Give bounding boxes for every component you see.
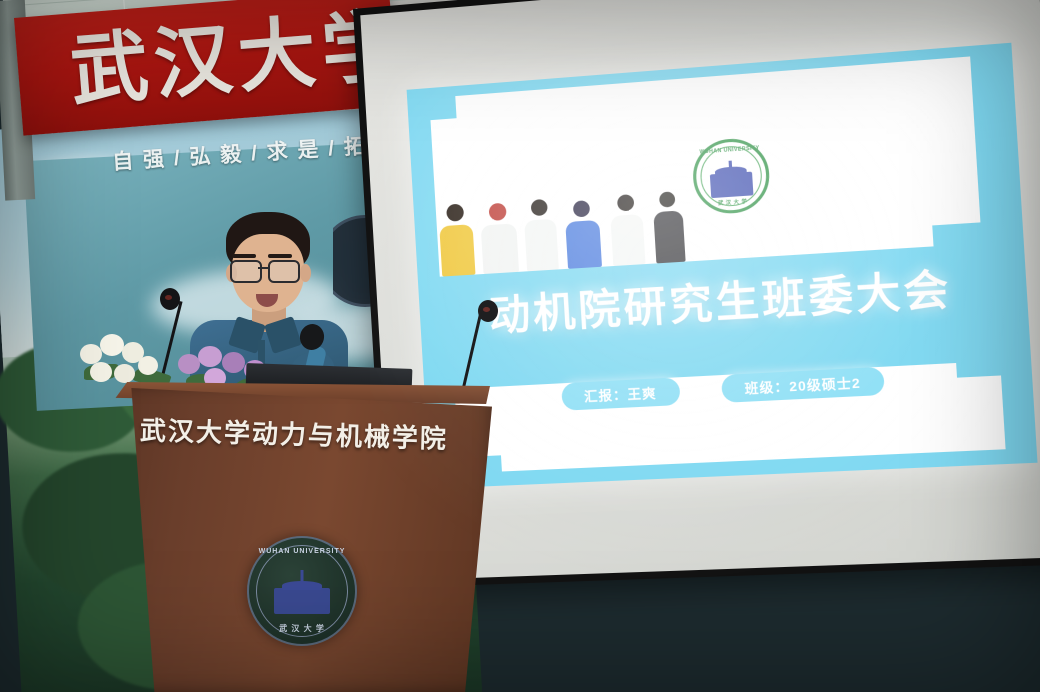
gooseneck-mic-right-head: [478, 300, 498, 322]
figure-body: [524, 219, 559, 272]
speaker-brow-left: [232, 254, 256, 258]
slide-illustration-people: [437, 183, 698, 277]
whu-logo-icon: WUHAN UNIVERSITY 武 汉 大 学: [691, 136, 771, 215]
glasses-lens-right-icon: [268, 260, 300, 283]
figure-yellow-floral: [438, 203, 475, 277]
figure-red-cap: [479, 202, 519, 274]
glasses-bridge: [258, 267, 268, 269]
podium-emblem-english: WUHAN UNIVERSITY: [249, 548, 355, 555]
speaker-ear-right: [300, 264, 311, 282]
figure-body: [439, 224, 475, 276]
figure-arms-raised: [564, 200, 602, 269]
figure-head: [488, 203, 506, 221]
figure-head: [572, 200, 589, 217]
presentation-slide: WUHAN UNIVERSITY 武 汉 大 学 动机院研究生班委大会 汇报：王…: [407, 43, 1038, 489]
figure-body: [653, 210, 685, 263]
figure-head: [616, 194, 634, 211]
figure-head: [530, 199, 547, 216]
figure-dark-top: [652, 191, 685, 264]
figure-body: [480, 223, 518, 274]
glasses-lens-left-icon: [230, 260, 262, 283]
figure-head: [659, 191, 676, 207]
podium-whu-emblem: WUHAN UNIVERSITY 武 汉 大 学: [247, 536, 357, 646]
figure-body: [610, 214, 645, 266]
podium-emblem-chinese: 武 汉 大 学: [249, 623, 355, 634]
figure-head: [446, 204, 464, 222]
pill-presenter: 汇报：王爽: [561, 377, 681, 410]
figure-dark-hair: [522, 198, 558, 271]
speaker-brow-right: [268, 254, 292, 258]
figure-white-top: [609, 194, 645, 266]
figure-body: [565, 220, 602, 269]
presentation-photo-scene: 自 强 / 弘 毅 / 求 是 / 拓 武汉大学动 授 WUHAN UNIVER…: [0, 0, 1040, 692]
red-banner-left-text: 武汉大学动: [66, 0, 398, 125]
